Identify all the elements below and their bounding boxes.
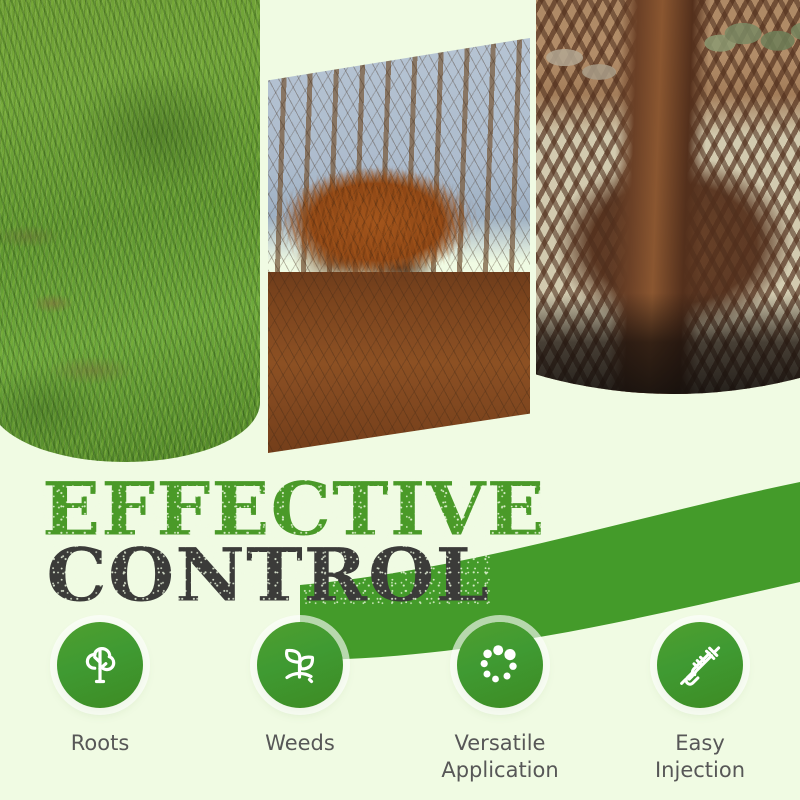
- feature-weeds-badge[interactable]: [257, 622, 343, 708]
- feature-roots[interactable]: Roots: [0, 622, 200, 757]
- feature-easy-injection-label: Easy Injection: [655, 730, 745, 784]
- feature-row: Roots Weeds: [0, 622, 800, 784]
- headline-block: EFFECTIVE CONTROL: [42, 478, 742, 606]
- feature-easy-injection-badge[interactable]: [657, 622, 743, 708]
- feature-roots-label: Roots: [71, 730, 130, 757]
- feature-versatile-application-badge[interactable]: [457, 622, 543, 708]
- promo-poster: EFFECTIVE CONTROL Roots: [0, 0, 800, 800]
- feature-weeds-label: Weeds: [265, 730, 335, 757]
- feature-roots-badge[interactable]: [57, 622, 143, 708]
- feature-easy-injection[interactable]: Easy Injection: [600, 622, 800, 784]
- headline-control-text: CONTROL: [46, 543, 490, 606]
- feature-versatile-application[interactable]: Versatile Application: [400, 622, 600, 784]
- syringe-icon: [673, 638, 727, 692]
- feature-versatile-application-label: Versatile Application: [441, 730, 558, 784]
- feature-weeds[interactable]: Weeds: [200, 622, 400, 757]
- sprout-icon: [273, 638, 327, 692]
- dots-spinner-icon: [473, 638, 527, 692]
- headline-line-control: CONTROL: [42, 543, 784, 606]
- tree-icon: [74, 639, 126, 691]
